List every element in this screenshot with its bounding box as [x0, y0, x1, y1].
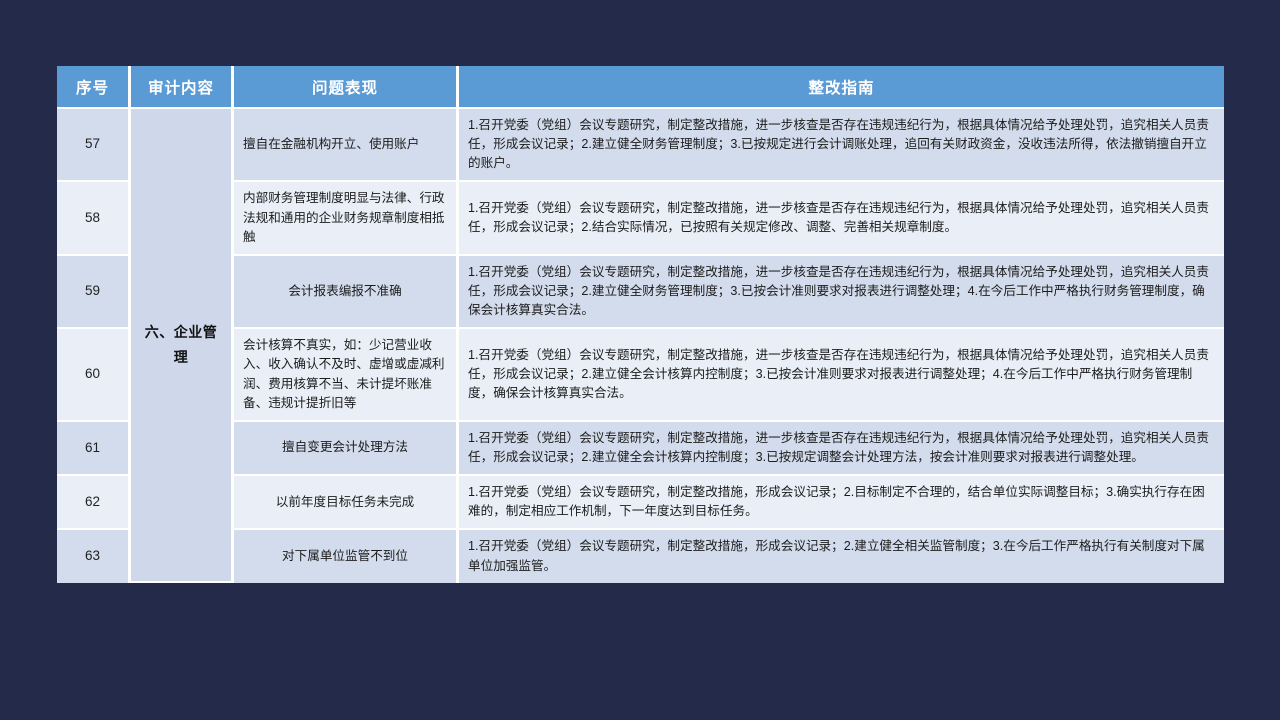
table-header-row: 序号 审计内容 问题表现 整改指南: [57, 66, 1224, 109]
table-body: 57 六、企业管理 擅自在金融机构开立、使用账户 1.召开党委（党组）会议专题研…: [57, 109, 1224, 583]
cell-seq: 59: [57, 256, 131, 329]
slide-canvas: 序号 审计内容 问题表现 整改指南 57 六、企业管理 擅自在金融机构开立、使用…: [0, 0, 1280, 720]
cell-guide: 1.召开党委（党组）会议专题研究，制定整改措施，形成会议记录；2.目标制定不合理…: [459, 476, 1224, 530]
cell-guide: 1.召开党委（党组）会议专题研究，制定整改措施，形成会议记录；2.建立健全相关监…: [459, 530, 1224, 582]
table-row: 57 六、企业管理 擅自在金融机构开立、使用账户 1.召开党委（党组）会议专题研…: [57, 109, 1224, 182]
column-header-category: 审计内容: [131, 66, 234, 109]
cell-guide: 1.召开党委（党组）会议专题研究，制定整改措施，进一步核查是否存在违规违纪行为，…: [459, 109, 1224, 182]
cell-category: 六、企业管理: [131, 109, 234, 583]
cell-seq: 63: [57, 530, 131, 582]
cell-issue: 内部财务管理制度明显与法律、行政法规和通用的企业财务规章制度相抵触: [234, 182, 459, 255]
audit-remediation-table: 序号 审计内容 问题表现 整改指南 57 六、企业管理 擅自在金融机构开立、使用…: [57, 66, 1224, 583]
audit-table-container: 序号 审计内容 问题表现 整改指南 57 六、企业管理 擅自在金融机构开立、使用…: [57, 66, 1224, 656]
column-header-seq: 序号: [57, 66, 131, 109]
cell-issue: 擅自变更会计处理方法: [234, 422, 459, 476]
cell-issue: 擅自在金融机构开立、使用账户: [234, 109, 459, 182]
cell-issue: 对下属单位监管不到位: [234, 530, 459, 582]
cell-seq: 62: [57, 476, 131, 530]
cell-seq: 58: [57, 182, 131, 255]
cell-guide: 1.召开党委（党组）会议专题研究，制定整改措施，进一步核查是否存在违规违纪行为，…: [459, 329, 1224, 422]
cell-guide: 1.召开党委（党组）会议专题研究，制定整改措施，进一步核查是否存在违规违纪行为，…: [459, 422, 1224, 476]
cell-issue: 会计核算不真实，如：少记营业收入、收入确认不及时、虚增或虚减利润、费用核算不当、…: [234, 329, 459, 422]
cell-seq: 61: [57, 422, 131, 476]
column-header-guide: 整改指南: [459, 66, 1224, 109]
cell-issue: 会计报表编报不准确: [234, 256, 459, 329]
table-header: 序号 审计内容 问题表现 整改指南: [57, 66, 1224, 109]
cell-guide: 1.召开党委（党组）会议专题研究，制定整改措施，进一步核查是否存在违规违纪行为，…: [459, 182, 1224, 255]
cell-seq: 57: [57, 109, 131, 182]
cell-guide: 1.召开党委（党组）会议专题研究，制定整改措施，进一步核查是否存在违规违纪行为，…: [459, 256, 1224, 329]
cell-seq: 60: [57, 329, 131, 422]
column-header-issue: 问题表现: [234, 66, 459, 109]
cell-issue: 以前年度目标任务未完成: [234, 476, 459, 530]
